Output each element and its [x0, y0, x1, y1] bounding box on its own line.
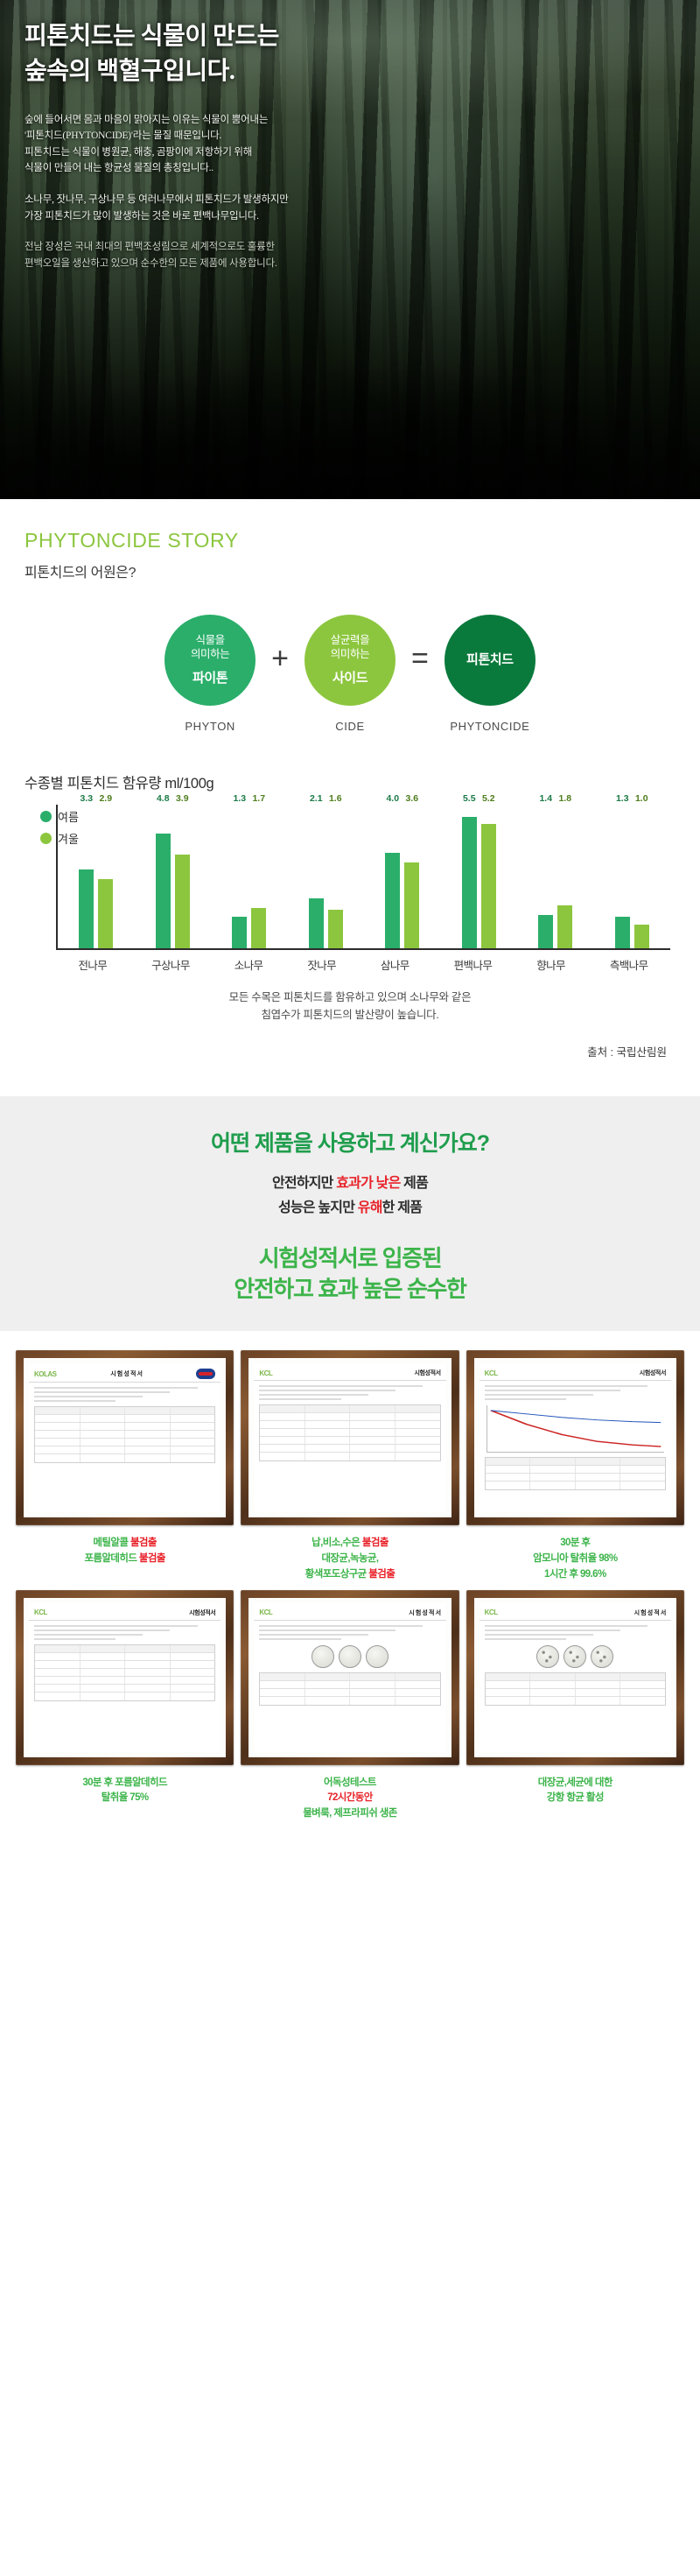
certificate-document: KCL시험성적서: [479, 1363, 671, 1512]
certificate-mat: KCL시험성적서: [24, 1598, 226, 1757]
table-cell: [530, 1474, 576, 1481]
document-title: 시 험 성 적 서: [110, 1369, 142, 1378]
table-cell: [486, 1681, 531, 1688]
document-header: KCL시 험 성 적 서: [479, 1603, 671, 1621]
table-cell: [35, 1431, 80, 1438]
table-cell: [486, 1697, 531, 1705]
table-cell: [620, 1466, 665, 1473]
circle-phyton-english: PHYTON: [185, 720, 235, 733]
table-row: [486, 1466, 665, 1474]
table-cell: [260, 1673, 305, 1680]
table-cell: [171, 1454, 215, 1462]
bar-group: 1.41.8: [538, 805, 572, 948]
table-cell: [80, 1446, 126, 1453]
certificate-caption: 메틸알콜 불검출포름알데히드 불검출: [84, 1536, 164, 1567]
table-cell: [530, 1697, 576, 1705]
certificate-caption: 30분 후암모니아 탈취율 98%1시간 후 99.6%: [533, 1536, 617, 1582]
document-text-line: [34, 1387, 198, 1389]
table-cell: [35, 1645, 80, 1652]
table-cell: [486, 1474, 531, 1481]
etymology-diagram: 식물을 의미하는 파이톤 PHYTON + 살균력을 의미하는 사이드 CIDE…: [24, 615, 675, 733]
table-cell: [350, 1437, 395, 1444]
hero-p3-line-2: 편백오일을 생산하고 있으며 순수한의 모든 제품에 사용합니다.: [24, 256, 675, 272]
bar-group: 2.11.6: [309, 805, 343, 948]
table-cell: [80, 1669, 126, 1676]
caption-line: 30분 후 포름알데히드: [82, 1776, 167, 1791]
certificate-frame: KCL시험성적서: [466, 1350, 684, 1525]
table-cell: [171, 1693, 215, 1700]
bar-value-label: 1.8: [558, 793, 571, 804]
band-line-1-part-a: 안전하지만: [272, 1176, 336, 1191]
x-axis-label: 소나무: [234, 956, 263, 973]
table-row: [35, 1454, 214, 1462]
petri-dish-icon: [339, 1645, 361, 1668]
band-line-2-part-a: 성능은 높지만: [278, 1200, 358, 1215]
caption-line: 납,비소,수은 불검출: [305, 1536, 395, 1552]
caption-line: 어독성테스트: [303, 1776, 397, 1791]
table-row: [486, 1697, 665, 1705]
document-text-line: [34, 1625, 198, 1627]
hero-p3-line-1: 전남 장성은 국내 최대의 편백조성림으로 세계적으로도 훌륭한: [24, 239, 675, 256]
table-cell: [260, 1453, 305, 1460]
caption-segment: 암모니아 탈취율 98%: [533, 1553, 617, 1564]
bar-여름: [232, 917, 247, 948]
chart-note-line-1: 모든 수목은 피톤치드를 함유하고 있으며 소나무와 같은: [24, 989, 675, 1006]
caption-line: 30분 후: [533, 1536, 617, 1552]
bar-holder: 5.5: [462, 805, 477, 948]
band-line-1-part-c: 제품: [401, 1176, 429, 1191]
x-axis-label: 구상나무: [151, 956, 190, 973]
table-row: [35, 1446, 214, 1454]
table-cell: [620, 1474, 665, 1481]
chart-title: 수종별 피톤치드 함유량 ml/100g: [24, 771, 675, 792]
certificate-card[interactable]: KCL시 험 성 적 서어독성테스트72시간동안물벼룩, 제프라피쉬 생존: [241, 1590, 458, 1822]
table-cell: [576, 1697, 621, 1705]
table-cell: [305, 1681, 351, 1688]
document-title: 시험성적서: [414, 1369, 440, 1377]
story-subtitle: 피톤치드의 어원은?: [24, 560, 675, 581]
band-claim-line-1: 시험성적서로 입증된: [24, 1243, 675, 1274]
table-cell: [486, 1689, 531, 1696]
table-row: [486, 1482, 665, 1489]
table-cell: [305, 1673, 351, 1680]
table-cell: [576, 1689, 621, 1696]
bar-holder: 1.3: [615, 805, 630, 948]
chart-legend: 여름 겨울: [40, 808, 79, 852]
certificate-document: KCL시험성적서: [29, 1603, 220, 1752]
document-result-table: [485, 1672, 666, 1706]
caption-segment: 대장균,녹농균,: [321, 1553, 378, 1564]
certificate-card[interactable]: KCL시험성적서30분 후 포름알데히드탈취율 75%: [16, 1590, 234, 1822]
table-cell: [80, 1645, 126, 1652]
hero-p2-line-1: 소나무, 잣나무, 구상나무 등 여러나무에서 피톤치드가 발생하지만: [24, 192, 675, 208]
table-row: [35, 1653, 214, 1661]
table-cell: [305, 1405, 351, 1412]
table-row: [260, 1413, 439, 1421]
bar-group: 4.03.6: [385, 805, 419, 948]
equals-icon: =: [411, 642, 429, 706]
certificate-mat: KCL시험성적서: [474, 1358, 676, 1517]
table-cell: [125, 1645, 171, 1652]
table-cell: [80, 1661, 126, 1668]
document-title: 시험성적서: [189, 1608, 215, 1617]
band-subtext: 안전하지만 효과가 낮은 제품 성능은 높지만 유해한 제품: [24, 1172, 675, 1221]
lab-logo: KOLAS: [34, 1370, 57, 1378]
table-row: [35, 1415, 214, 1423]
table-cell: [576, 1474, 621, 1481]
table-cell: [305, 1413, 351, 1420]
table-cell: [260, 1689, 305, 1696]
table-cell: [260, 1413, 305, 1420]
bar-여름: [79, 869, 94, 948]
table-cell: [486, 1466, 531, 1473]
document-text-line: [485, 1390, 620, 1391]
bar-value-label: 4.8: [157, 793, 170, 804]
x-axis-label: 향나무: [536, 956, 565, 973]
table-row: [260, 1421, 439, 1429]
bar-겨울: [328, 910, 343, 948]
bar-value-label: 1.0: [635, 793, 648, 804]
petri-dish-icon: [536, 1645, 559, 1668]
document-result-table: [259, 1672, 440, 1706]
table-cell: [125, 1661, 171, 1668]
table-row: [35, 1439, 214, 1446]
document-text-line: [485, 1394, 593, 1396]
table-row: [35, 1645, 214, 1653]
table-cell: [35, 1693, 80, 1700]
phytoncide-content-chart-section: 수종별 피톤치드 함유량 ml/100g 여름 겨울 3.32.94.83.91…: [0, 733, 700, 1059]
bar-value-label: 2.9: [99, 793, 112, 804]
caption-line: 암모니아 탈취율 98%: [533, 1552, 617, 1567]
table-cell: [395, 1681, 440, 1688]
certificate-frame: KCL시 험 성 적 서: [466, 1590, 684, 1765]
document-text-lines: [254, 1381, 445, 1400]
document-result-table: [485, 1457, 666, 1490]
table-row: [260, 1405, 439, 1413]
hero-title-line-1: 피톤치드는 식물이 만드는: [24, 19, 675, 54]
band-line-1: 안전하지만 효과가 낮은 제품: [24, 1172, 675, 1196]
hero-p1-line-2: '피톤치드(PHYTONCIDE)'라는 물질 때문입니다.: [24, 128, 675, 144]
chart-note: 모든 수목은 피톤치드를 함유하고 있으며 소나무와 같은 침엽수가 피톤치드의…: [24, 989, 675, 1024]
bar-겨울: [481, 824, 496, 948]
chart-x-axis-labels: 전나무구상나무소나무잣나무삼나무편백나무향나무측백나무: [56, 956, 670, 973]
bar-value-label: 3.6: [405, 793, 418, 804]
table-cell: [35, 1446, 80, 1453]
circle-cide-word: 사이드: [332, 670, 367, 686]
caption-segment: 어독성테스트: [324, 1777, 376, 1788]
table-cell: [171, 1685, 215, 1692]
certificate-mat: KCL시 험 성 적 서: [248, 1598, 451, 1757]
table-cell: [530, 1681, 576, 1688]
bar-여름: [385, 853, 400, 948]
hero-p1-line-3: 피톤치드는 식물이 병원균, 해충, 곰팡이에 저항하기 위해: [24, 144, 675, 161]
petri-dish-images: [485, 1645, 666, 1668]
certificate-card[interactable]: KCL시 험 성 적 서대장균,세균에 대한강항 항균 활성: [466, 1590, 684, 1822]
table-cell: [125, 1439, 171, 1446]
table-cell: [395, 1453, 440, 1460]
x-axis-label: 전나무: [78, 956, 107, 973]
table-cell: [530, 1673, 576, 1680]
circle-phyton-cap-1: 식물을: [195, 633, 224, 647]
document-text-line: [259, 1398, 340, 1400]
table-cell: [530, 1482, 576, 1489]
table-cell: [260, 1445, 305, 1452]
table-cell: [171, 1677, 215, 1684]
circle-phyton-cap-2: 의미하는: [191, 647, 229, 661]
table-cell: [125, 1423, 171, 1430]
table-cell: [305, 1429, 351, 1436]
table-cell: [395, 1413, 440, 1420]
certificate-mat: KCL시험성적서: [248, 1358, 451, 1517]
table-row: [35, 1423, 214, 1431]
table-cell: [171, 1669, 215, 1676]
certificate-card[interactable]: KCL시험성적서30분 후암모니아 탈취율 98%1시간 후 99.6%: [466, 1350, 684, 1582]
certificate-mat: KCL시 험 성 적 서: [474, 1598, 676, 1757]
table-cell: [171, 1645, 215, 1652]
table-row: [486, 1673, 665, 1681]
circle-cide: 살균력을 의미하는 사이드: [304, 615, 395, 706]
table-cell: [576, 1482, 621, 1489]
table-row: [35, 1407, 214, 1415]
table-cell: [35, 1653, 80, 1660]
circle-phytoncide: 피톤치드: [444, 615, 535, 706]
document-title: 시 험 성 적 서: [634, 1608, 666, 1617]
table-cell: [171, 1653, 215, 1660]
hero-p1-line-4: 식물이 만들어 내는 항균성 물질의 총칭입니다..: [24, 160, 675, 177]
chart-source: 출처 : 국립산림원: [24, 1043, 675, 1059]
certificate-frame: KCL시험성적서: [241, 1350, 458, 1525]
caption-segment: 불검출: [130, 1538, 157, 1548]
table-cell: [171, 1431, 215, 1438]
legend-dot-winter-icon: [40, 833, 52, 844]
circle-phyton: 식물을 의미하는 파이톤: [164, 615, 255, 706]
bar-holder: 2.9: [98, 805, 113, 948]
etymology-term-phytoncide: 피톤치드 PHYTONCIDE: [441, 615, 539, 733]
document-text-line: [259, 1634, 367, 1636]
table-cell: [125, 1677, 171, 1684]
table-cell: [125, 1431, 171, 1438]
document-text-line: [259, 1625, 423, 1627]
table-cell: [530, 1466, 576, 1473]
bar-holder: 1.0: [634, 805, 649, 948]
table-cell: [305, 1697, 351, 1705]
document-text-line: [485, 1634, 593, 1636]
caption-line: 대장균,세균에 대한: [538, 1776, 612, 1791]
table-cell: [80, 1423, 126, 1430]
bar-여름: [615, 917, 630, 948]
circle-phyton-word: 파이톤: [192, 670, 227, 686]
band-claim: 시험성적서로 입증된 안전하고 효과 높은 순수한: [24, 1243, 675, 1305]
table-cell: [80, 1677, 126, 1684]
table-row: [35, 1685, 214, 1693]
document-text-line: [259, 1394, 367, 1396]
table-cell: [125, 1415, 171, 1422]
document-header: KCL시험성적서: [254, 1363, 445, 1381]
band-line-2-highlight: 유해: [358, 1200, 382, 1215]
table-cell: [171, 1446, 215, 1453]
caption-segment: 불검출: [368, 1569, 395, 1580]
x-axis-label: 삼나무: [381, 956, 409, 973]
x-axis-label: 측백나무: [610, 956, 648, 973]
document-text-line: [34, 1634, 143, 1636]
hero-title: 피톤치드는 식물이 만드는 숲속의 백혈구입니다.: [24, 19, 675, 89]
caption-segment: 메틸알콜: [93, 1538, 130, 1548]
hero-paragraph-3: 전남 장성은 국내 최대의 편백조성림으로 세계적으로도 훌륭한 편백오일을 생…: [24, 239, 675, 271]
lab-logo: KCL: [485, 1608, 498, 1616]
table-cell: [35, 1661, 80, 1668]
band-line-1-highlight: 효과가 낮은: [336, 1176, 400, 1191]
bar-value-label: 2.1: [310, 793, 323, 804]
table-cell: [125, 1653, 171, 1660]
table-row: [486, 1474, 665, 1482]
table-cell: [395, 1405, 440, 1412]
hero-section: 피톤치드는 식물이 만드는 숲속의 백혈구입니다. 숲에 들어서면 몸과 마음이…: [0, 0, 700, 499]
legend-label-winter: 겨울: [58, 830, 79, 847]
table-cell: [620, 1673, 665, 1680]
table-cell: [305, 1421, 351, 1428]
table-cell: [125, 1685, 171, 1692]
certificates-grid: KOLAS시 험 성 적 서메틸알콜 불검출포름알데히드 불검출KCL시험성적서…: [0, 1331, 700, 1848]
table-row: [486, 1681, 665, 1689]
table-cell: [350, 1421, 395, 1428]
document-text-line: [34, 1638, 115, 1640]
certificate-card[interactable]: KOLAS시 험 성 적 서메틸알콜 불검출포름알데히드 불검출: [16, 1350, 234, 1582]
table-row: [260, 1429, 439, 1437]
bar-holder: 1.8: [557, 805, 572, 948]
certificate-document: KCL시 험 성 적 서: [479, 1603, 671, 1752]
table-cell: [80, 1415, 126, 1422]
table-cell: [80, 1685, 126, 1692]
circle-cide-cap-1: 살균력을: [331, 633, 369, 647]
kolas-seal-icon: [196, 1369, 215, 1379]
band-question: 어떤 제품을 사용하고 계신가요?: [24, 1126, 675, 1158]
petri-dish-icon: [311, 1645, 334, 1668]
caption-segment: 30분 후: [560, 1538, 590, 1548]
bar-여름: [462, 817, 477, 948]
document-text-line: [485, 1385, 648, 1387]
bar-value-label: 5.5: [463, 793, 476, 804]
legend-dot-summer-icon: [40, 811, 52, 822]
table-cell: [171, 1439, 215, 1446]
table-cell: [395, 1437, 440, 1444]
deodorization-line-chart: [486, 1405, 664, 1453]
table-cell: [80, 1693, 126, 1700]
document-text-line: [485, 1638, 566, 1640]
certificate-frame: KCL시험성적서: [16, 1590, 234, 1765]
table-cell: [35, 1685, 80, 1692]
story-eyebrow: PHYTONCIDE STORY: [24, 529, 675, 553]
bar-여름: [156, 834, 171, 948]
certificate-card[interactable]: KCL시험성적서납,비소,수은 불검출대장균,녹농균,황색포도상구균 불검출: [241, 1350, 458, 1582]
table-row: [35, 1431, 214, 1439]
table-cell: [80, 1454, 126, 1462]
legend-label-summer: 여름: [58, 808, 79, 825]
document-text-line: [259, 1385, 423, 1387]
document-text-lines: [479, 1621, 671, 1640]
lab-logo: KCL: [259, 1608, 272, 1616]
caption-segment: 대장균,세균에 대한: [538, 1777, 612, 1788]
hero-title-line-2: 숲속의 백혈구입니다.: [24, 54, 675, 89]
table-cell: [620, 1681, 665, 1688]
petri-dish-icon: [563, 1645, 586, 1668]
bar-겨울: [175, 855, 190, 948]
caption-line: 물벼룩, 제프라피쉬 생존: [303, 1806, 397, 1822]
bar-value-label: 1.3: [233, 793, 246, 804]
bar-holder: 1.4: [538, 805, 553, 948]
hero-p1-line-1: 숲에 들어서면 몸과 마음이 맑아지는 이유는 식물이 뿜어내는: [24, 112, 675, 129]
bar-holder: 4.8: [156, 805, 171, 948]
band-claim-line-2: 안전하고 효과 높은 순수한: [24, 1274, 675, 1305]
table-cell: [35, 1407, 80, 1414]
bar-value-label: 1.4: [539, 793, 552, 804]
infographic-page: 피톤치드는 식물이 만드는 숲속의 백혈구입니다. 숲에 들어서면 몸과 마음이…: [0, 0, 700, 1848]
table-row: [260, 1689, 439, 1697]
caption-segment: 불검출: [139, 1553, 165, 1564]
certificate-caption: 30분 후 포름알데히드탈취율 75%: [82, 1776, 167, 1807]
table-row: [260, 1681, 439, 1689]
bar-group: 5.55.2: [462, 805, 496, 948]
table-cell: [35, 1669, 80, 1676]
bar-겨울: [404, 862, 419, 948]
bar-holder: 3.9: [175, 805, 190, 948]
table-row: [35, 1661, 214, 1669]
table-cell: [125, 1407, 171, 1414]
chart-note-line-2: 침엽수가 피톤치드의 발산량이 높습니다.: [24, 1006, 675, 1024]
table-row: [35, 1669, 214, 1677]
lab-logo: KCL: [259, 1369, 272, 1377]
circle-phytoncide-word: 피톤치드: [466, 651, 514, 668]
certificate-frame: KOLAS시 험 성 적 서: [16, 1350, 234, 1525]
table-cell: [395, 1673, 440, 1680]
etymology-term-cide: 살균력을 의미하는 사이드 CIDE: [301, 615, 399, 733]
hero-p2-line-2: 가장 피톤치드가 많이 발생하는 것은 바로 편백나무입니다.: [24, 208, 675, 225]
caption-segment: 강항 항균 활성: [547, 1792, 604, 1803]
certificate-document: KOLAS시 험 성 적 서: [29, 1363, 220, 1512]
caption-segment: 72시간동안: [327, 1792, 373, 1803]
table-cell: [620, 1482, 665, 1489]
table-cell: [260, 1437, 305, 1444]
certificate-frame: KCL시 험 성 적 서: [241, 1590, 458, 1765]
table-cell: [171, 1415, 215, 1422]
table-cell: [260, 1405, 305, 1412]
table-cell: [350, 1697, 395, 1705]
table-cell: [576, 1458, 621, 1465]
document-header: KCL시험성적서: [29, 1603, 220, 1621]
table-cell: [576, 1673, 621, 1680]
bar-value-label: 1.7: [252, 793, 265, 804]
band-line-2: 성능은 높지만 유해한 제품: [24, 1196, 675, 1221]
table-cell: [530, 1458, 576, 1465]
bar-여름: [309, 898, 324, 948]
bar-chart: 여름 겨울 3.32.94.83.91.31.72.11.64.03.65.55…: [24, 805, 675, 950]
legend-item-summer: 여름: [40, 808, 79, 825]
table-cell: [80, 1653, 126, 1660]
bar-겨울: [98, 879, 113, 948]
bar-value-label: 1.3: [616, 793, 629, 804]
table-cell: [350, 1445, 395, 1452]
band-line-2-part-c: 한 제품: [382, 1200, 422, 1215]
table-cell: [395, 1421, 440, 1428]
bar-겨울: [557, 905, 572, 948]
bar-holder: 4.0: [385, 805, 400, 948]
table-cell: [350, 1429, 395, 1436]
table-cell: [125, 1446, 171, 1453]
bar-holder: 1.7: [251, 805, 266, 948]
document-result-table: [259, 1404, 440, 1461]
table-cell: [395, 1689, 440, 1696]
table-row: [260, 1453, 439, 1460]
lab-logo: KCL: [485, 1369, 498, 1377]
